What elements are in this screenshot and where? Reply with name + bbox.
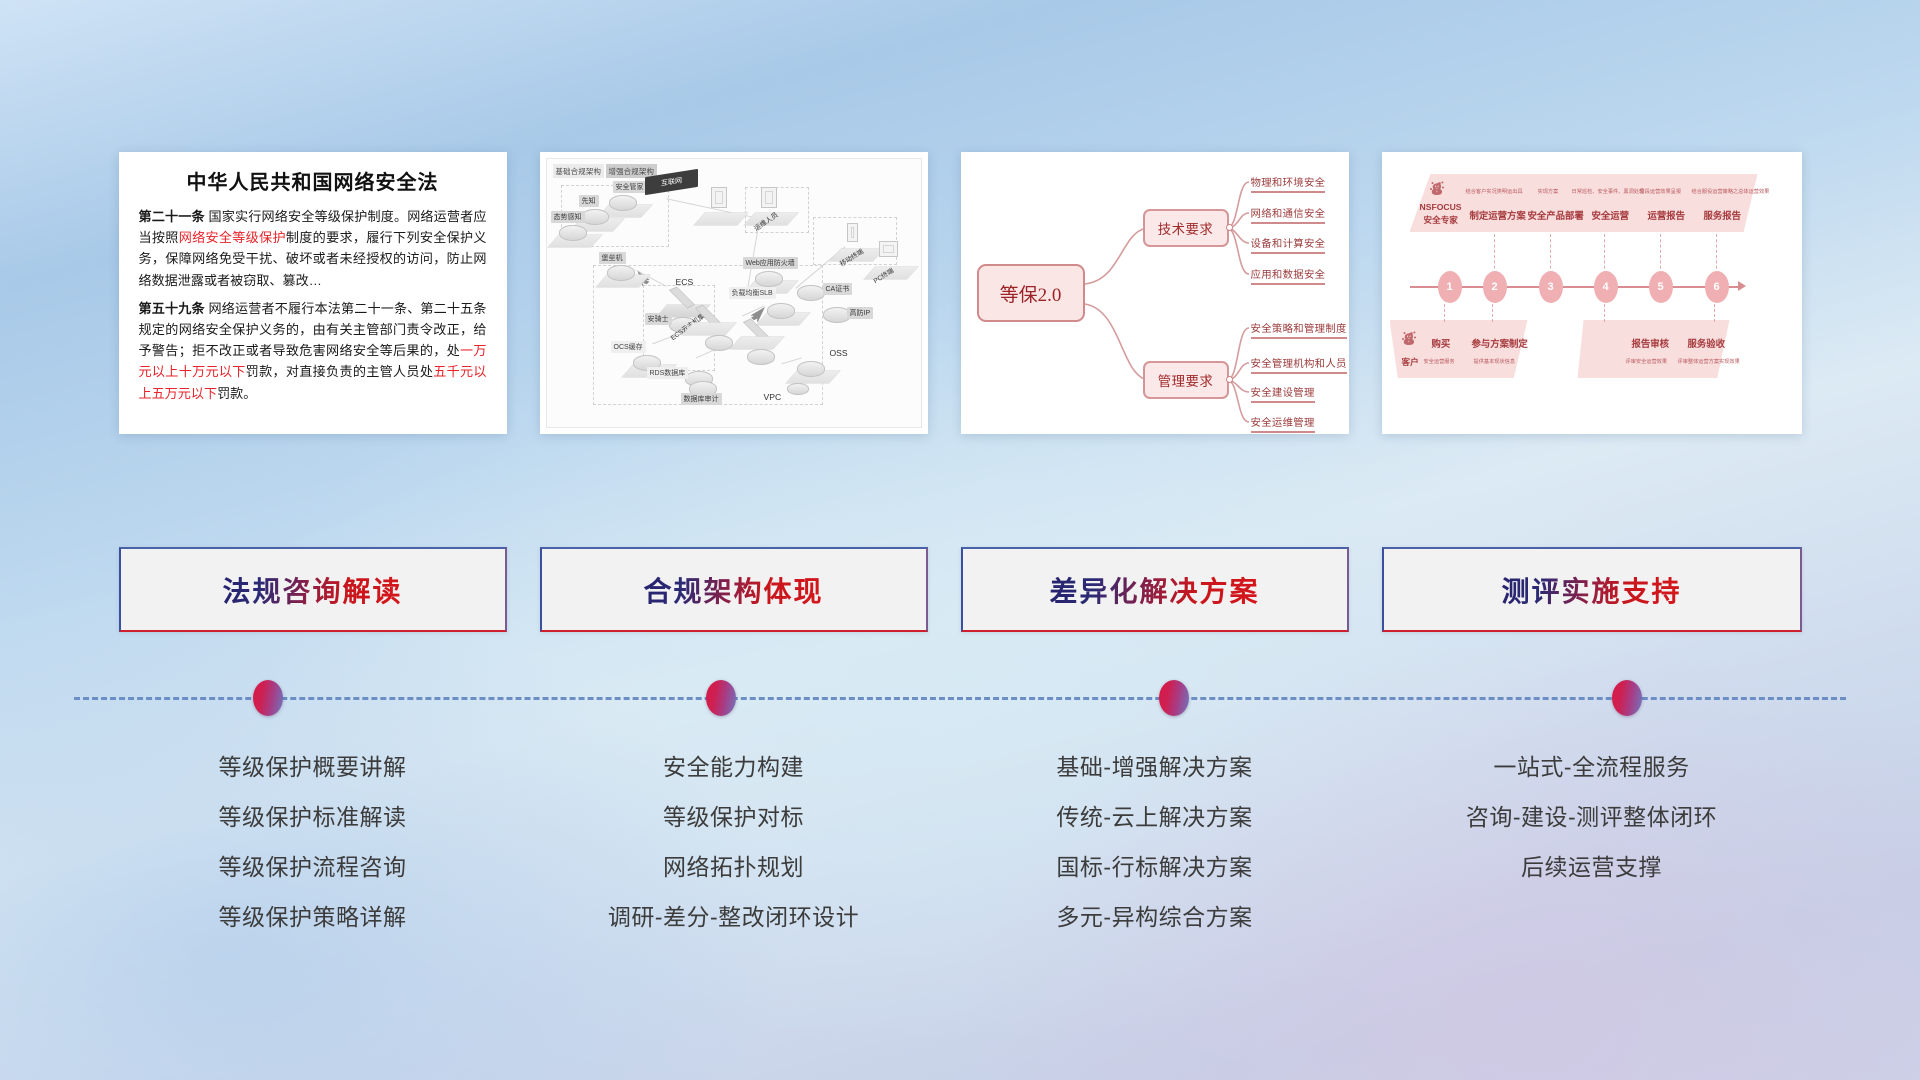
roadmap-step-5[interactable]: 5 xyxy=(1649,271,1673,303)
node-label-security-manager: 安全管家 xyxy=(613,181,647,193)
list-column-compliance-architecture: 安全能力构建 等级保护对标 网络拓扑规划 调研-差分-整改闭环设计 xyxy=(540,742,928,942)
mindmap-branch-management: 管理要求 xyxy=(1143,361,1229,399)
roadmap-leader-top-2 xyxy=(1494,234,1495,274)
section-title-compliance-architecture: 合规架构体现 xyxy=(643,570,823,610)
mindmap-branch-technical: 技术要求 xyxy=(1143,209,1229,247)
roadmap-top-head-5: 服务报告 xyxy=(1704,208,1742,222)
section-title-assessment-support: 测评实施支持 xyxy=(1501,570,1681,610)
node-label-anqishi: 安骑士 xyxy=(645,313,672,325)
expert-person-icon: ⛇ xyxy=(1430,178,1445,200)
section-title-regulation-consulting: 法规咨询解读 xyxy=(222,570,402,610)
roadmap-top-sub-1: 结合客户实况类明运出具 xyxy=(1466,188,1523,195)
article-21-highlight: 网络安全等级保护 xyxy=(179,230,286,245)
roadmap-bottom-actor: 客户 xyxy=(1402,356,1419,368)
architecture-canvas: 基础合规架构 增强合规架构 xyxy=(546,158,922,428)
law-article-21: 第二十一条 国家实行网络安全等级保护制度。网络运营者应当按照网络安全等级保护制度… xyxy=(139,206,487,291)
timeline-dot-2[interactable] xyxy=(706,680,736,716)
roadmap-leader-bottom-2 xyxy=(1492,304,1493,322)
mindmap-leaf-device-compute: 设备和计算安全 xyxy=(1251,235,1326,254)
article-59-label: 第五十九条 xyxy=(139,301,205,316)
list-column-regulation-consulting: 等级保护概要讲解 等级保护标准解读 等级保护流程咨询 等级保护策略详解 xyxy=(119,742,507,942)
list-item: 等级保护标准解读 xyxy=(219,792,407,842)
roadmap-leader-top-6 xyxy=(1716,234,1717,274)
mindmap-leaf-construction-mgmt: 安全建设管理 xyxy=(1251,384,1315,403)
node-label-vpc: VPC xyxy=(761,391,785,403)
node-label-rds-database: RDS数据库 xyxy=(647,367,689,379)
section-title-differentiated-solution: 差异化解决方案 xyxy=(1049,570,1259,610)
node-label-ecs: ECS xyxy=(673,276,697,288)
article-21-label: 第二十一条 xyxy=(139,209,205,224)
list-item: 等级保护概要讲解 xyxy=(219,742,407,792)
timeline-dot-1[interactable] xyxy=(253,680,283,716)
roadmap-bottom-sub-2: 提供基本现状信息 xyxy=(1474,358,1516,365)
roadmap-top-head-4: 运营报告 xyxy=(1648,208,1686,222)
node-label-anti-ddos-ip: 高防IP xyxy=(847,307,874,319)
roadmap-bottom-head-4: 服务验收 xyxy=(1688,336,1726,350)
node-label-ocs-cache: OCS缓存 xyxy=(611,341,646,353)
mindmap-leaf-physical-env: 物理和环境安全 xyxy=(1251,174,1326,193)
roadmap-bottom-sub-3: 评审安全运营效果 xyxy=(1626,358,1668,365)
list-item: 等级保护流程咨询 xyxy=(219,842,407,892)
roadmap-leader-top-3 xyxy=(1550,234,1551,274)
roadmap-axis-arrow-icon xyxy=(1738,281,1746,291)
timeline-dot-3[interactable] xyxy=(1159,680,1189,716)
roadmap-step-4[interactable]: 4 xyxy=(1594,271,1618,303)
roadmap-step-1[interactable]: 1 xyxy=(1438,271,1462,303)
timeline-dot-4[interactable] xyxy=(1612,680,1642,716)
roadmap-top-sub-2: 实现方案 xyxy=(1538,188,1559,195)
roadmap-top-actor-line2: 安全专家 xyxy=(1424,214,1458,226)
customer-person-icon: ⛇ xyxy=(1402,328,1417,350)
roadmap-bottom-head-1: 购买 xyxy=(1432,336,1451,350)
list-item: 等级保护对标 xyxy=(663,792,804,842)
section-title-box-assessment-support[interactable]: 测评实施支持 xyxy=(1382,547,1802,632)
node-label-bastion-host: 堡垒机 xyxy=(599,252,626,264)
list-item: 基础-增强解决方案 xyxy=(1056,742,1252,792)
list-item: 等级保护策略详解 xyxy=(219,892,407,942)
roadmap-top-actor-line1: NSFOCUS xyxy=(1420,202,1462,212)
list-item: 国标-行标解决方案 xyxy=(1056,842,1252,892)
section-title-box-compliance-architecture[interactable]: 合规架构体现 xyxy=(540,547,928,632)
list-item: 安全能力构建 xyxy=(663,742,804,792)
roadmap-top-head-3: 安全运营 xyxy=(1592,208,1630,222)
preview-cards-row: 中华人民共和国网络安全法 第二十一条 国家实行网络安全等级保护制度。网络运营者应… xyxy=(0,152,1920,442)
node-label-ca-certificate: CA证书 xyxy=(823,283,853,295)
roadmap-leader-bottom-3 xyxy=(1604,304,1605,322)
list-column-differentiated-solution: 基础-增强解决方案 传统-云上解决方案 国标-行标解决方案 多元-异构综合方案 xyxy=(961,742,1349,942)
section-titles-row: 法规咨询解读 合规架构体现 差异化解决方案 测评实施支持 xyxy=(0,547,1920,632)
roadmap-bottom-head-2: 参与方案制定 xyxy=(1472,336,1528,350)
roadmap-leader-bottom-4 xyxy=(1714,304,1715,322)
list-item: 网络拓扑规划 xyxy=(663,842,804,892)
timeline-dashed-line xyxy=(74,697,1846,700)
roadmap-step-3[interactable]: 3 xyxy=(1539,271,1563,303)
node-label-slb: 负载均衡SLB xyxy=(729,287,776,299)
mindmap-leaf-policy-system: 安全策略和管理制度 xyxy=(1251,320,1347,339)
card-service-roadmap[interactable]: ⛇ NSFOCUS 安全专家 结合客户实况类明运出具 制定运营方案 实现方案 安… xyxy=(1382,152,1802,434)
mindmap-leaf-app-data: 应用和数据安全 xyxy=(1251,266,1326,285)
roadmap-leader-top-4 xyxy=(1604,234,1605,274)
roadmap-leader-bottom-1 xyxy=(1444,304,1445,322)
node-label-situational-awareness: 态势感知 xyxy=(551,211,585,223)
mindmap-leaf-org-personnel: 安全管理机构和人员 xyxy=(1251,355,1347,374)
mindmap-leaf-ops-mgmt: 安全运维管理 xyxy=(1251,414,1315,433)
roadmap-top-sub-5: 结合服役运营策略之总体运营效果 xyxy=(1692,188,1770,195)
node-label-oss: OSS xyxy=(827,347,851,359)
section-lists-row: 等级保护概要讲解 等级保护标准解读 等级保护流程咨询 等级保护策略详解 安全能力… xyxy=(0,742,1920,942)
section-title-box-differentiated-solution[interactable]: 差异化解决方案 xyxy=(961,547,1349,632)
roadmap-bottom-head-3: 报告审核 xyxy=(1632,336,1670,350)
list-item: 调研-差分-整改闭环设计 xyxy=(608,892,859,942)
node-label-db-audit: 数据库审计 xyxy=(681,393,722,405)
roadmap-top-sub-3: 日常巡检、安全事件、黑洞处理 xyxy=(1572,188,1645,195)
mindmap-root-node: 等保2.0 xyxy=(977,264,1085,322)
card-mindmap-dengbao[interactable]: 等保2.0 技术要求 物理和环境安全 网络和通信安全 设备和计算安全 应用和数据… xyxy=(961,152,1349,434)
list-item: 传统-云上解决方案 xyxy=(1056,792,1252,842)
roadmap-step-2[interactable]: 2 xyxy=(1483,271,1507,303)
section-title-box-regulation-consulting[interactable]: 法规咨询解读 xyxy=(119,547,507,632)
roadmap-top-head-2: 安全产品部署 xyxy=(1528,208,1584,222)
article-59-text-3: 罚款。 xyxy=(217,386,256,401)
roadmap-step-6[interactable]: 6 xyxy=(1705,271,1729,303)
roadmap-top-head-1: 制定运营方案 xyxy=(1470,208,1526,222)
roadmap-bottom-sub-1: 安全运营服务 xyxy=(1424,358,1455,365)
mindmap-collapse-dot-management[interactable] xyxy=(1226,376,1233,383)
list-item: 后续运营支撑 xyxy=(1521,842,1662,892)
roadmap-top-sub-4: 阶段运营效果呈报 xyxy=(1640,188,1682,195)
roadmap-bottom-sub-4: 评审整体运营方案实现效果 xyxy=(1678,358,1740,365)
list-item: 咨询-建设-测评整体闭环 xyxy=(1466,792,1717,842)
card-cloud-architecture[interactable]: 基础合规架构 增强合规架构 xyxy=(540,152,928,434)
list-column-assessment-support: 一站式-全流程服务 咨询-建设-测评整体闭环 后续运营支撑 xyxy=(1382,742,1802,942)
card-cybersecurity-law[interactable]: 中华人民共和国网络安全法 第二十一条 国家实行网络安全等级保护制度。网络运营者应… xyxy=(119,152,507,434)
mindmap-leaf-network-comm: 网络和通信安全 xyxy=(1251,205,1326,224)
article-59-text-2: 罚款，对直接负责的主管人员处 xyxy=(246,364,434,379)
roadmap-leader-top-5 xyxy=(1660,234,1661,274)
mindmap-collapse-dot-technical[interactable] xyxy=(1226,224,1233,231)
list-item: 多元-异构综合方案 xyxy=(1056,892,1252,942)
list-item: 一站式-全流程服务 xyxy=(1493,742,1689,792)
node-label-xianzhi: 先知 xyxy=(579,195,599,207)
node-label-waf: Web应用防火墙 xyxy=(743,257,798,269)
law-document-title: 中华人民共和国网络安全法 xyxy=(139,166,487,195)
law-article-59: 第五十九条 网络运营者不履行本法第二十一条、第二十五条规定的网络安全保护义务的，… xyxy=(139,298,487,404)
